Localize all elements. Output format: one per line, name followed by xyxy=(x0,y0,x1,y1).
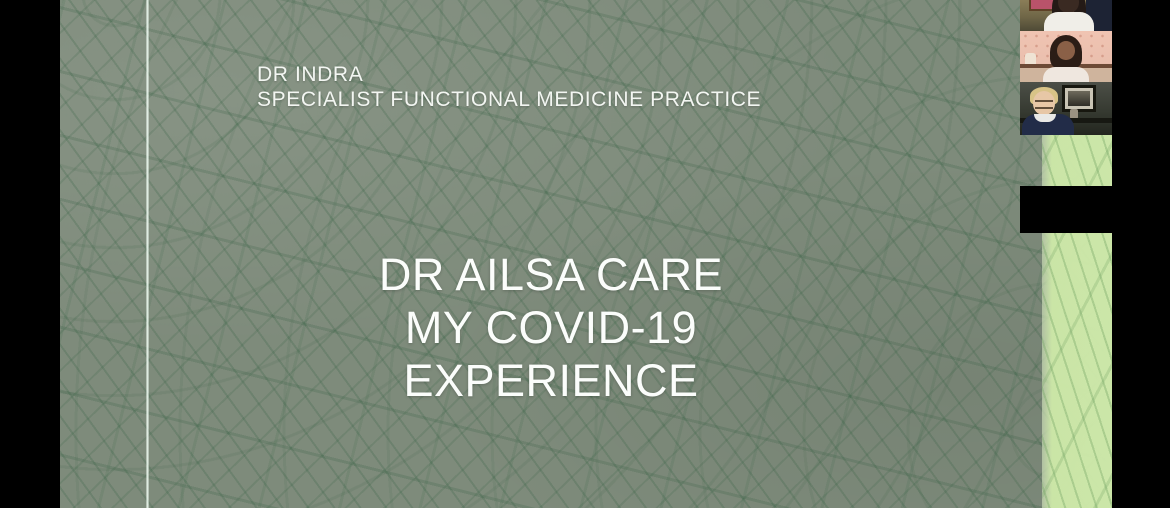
slide-title-line-1: DR AILSA CARE xyxy=(60,248,1042,301)
slide-title-line-3: EXPERIENCE xyxy=(60,354,1042,407)
participant-video-2 xyxy=(1020,31,1112,82)
participant-filmstrip[interactable] xyxy=(1020,0,1112,508)
presenter-credit-block: DR INDRA SPECIALIST FUNCTIONAL MEDICINE … xyxy=(257,62,761,112)
participant-video-3 xyxy=(1020,82,1112,135)
tile-2-torso xyxy=(1043,67,1089,82)
letterbox-bar-left xyxy=(0,0,60,508)
letterbox-bar-right xyxy=(1112,0,1170,508)
tile-3-framed-picture xyxy=(1062,85,1096,112)
presenter-name: DR INDRA xyxy=(257,62,761,87)
presenter-role: SPECIALIST FUNCTIONAL MEDICINE PRACTICE xyxy=(257,87,761,112)
shared-screen-slide[interactable]: DR INDRA SPECIALIST FUNCTIONAL MEDICINE … xyxy=(60,0,1112,508)
participant-tile-2[interactable] xyxy=(1020,31,1112,82)
slide-title-line-2: MY COVID-19 xyxy=(60,301,1042,354)
participant-tile-3[interactable] xyxy=(1020,82,1112,135)
participant-tile-1[interactable] xyxy=(1020,0,1112,31)
tile-1-torso xyxy=(1044,12,1094,31)
slide-title: DR AILSA CARE MY COVID-19 EXPERIENCE xyxy=(60,248,1042,407)
filmstrip-empty-slot xyxy=(1020,186,1112,233)
participant-video-1 xyxy=(1020,0,1112,31)
tile-3-picture-image xyxy=(1068,91,1090,106)
tile-2-face xyxy=(1057,41,1075,60)
video-call-screen: DR INDRA SPECIALIST FUNCTIONAL MEDICINE … xyxy=(0,0,1170,508)
tile-3-glasses xyxy=(1035,100,1053,109)
